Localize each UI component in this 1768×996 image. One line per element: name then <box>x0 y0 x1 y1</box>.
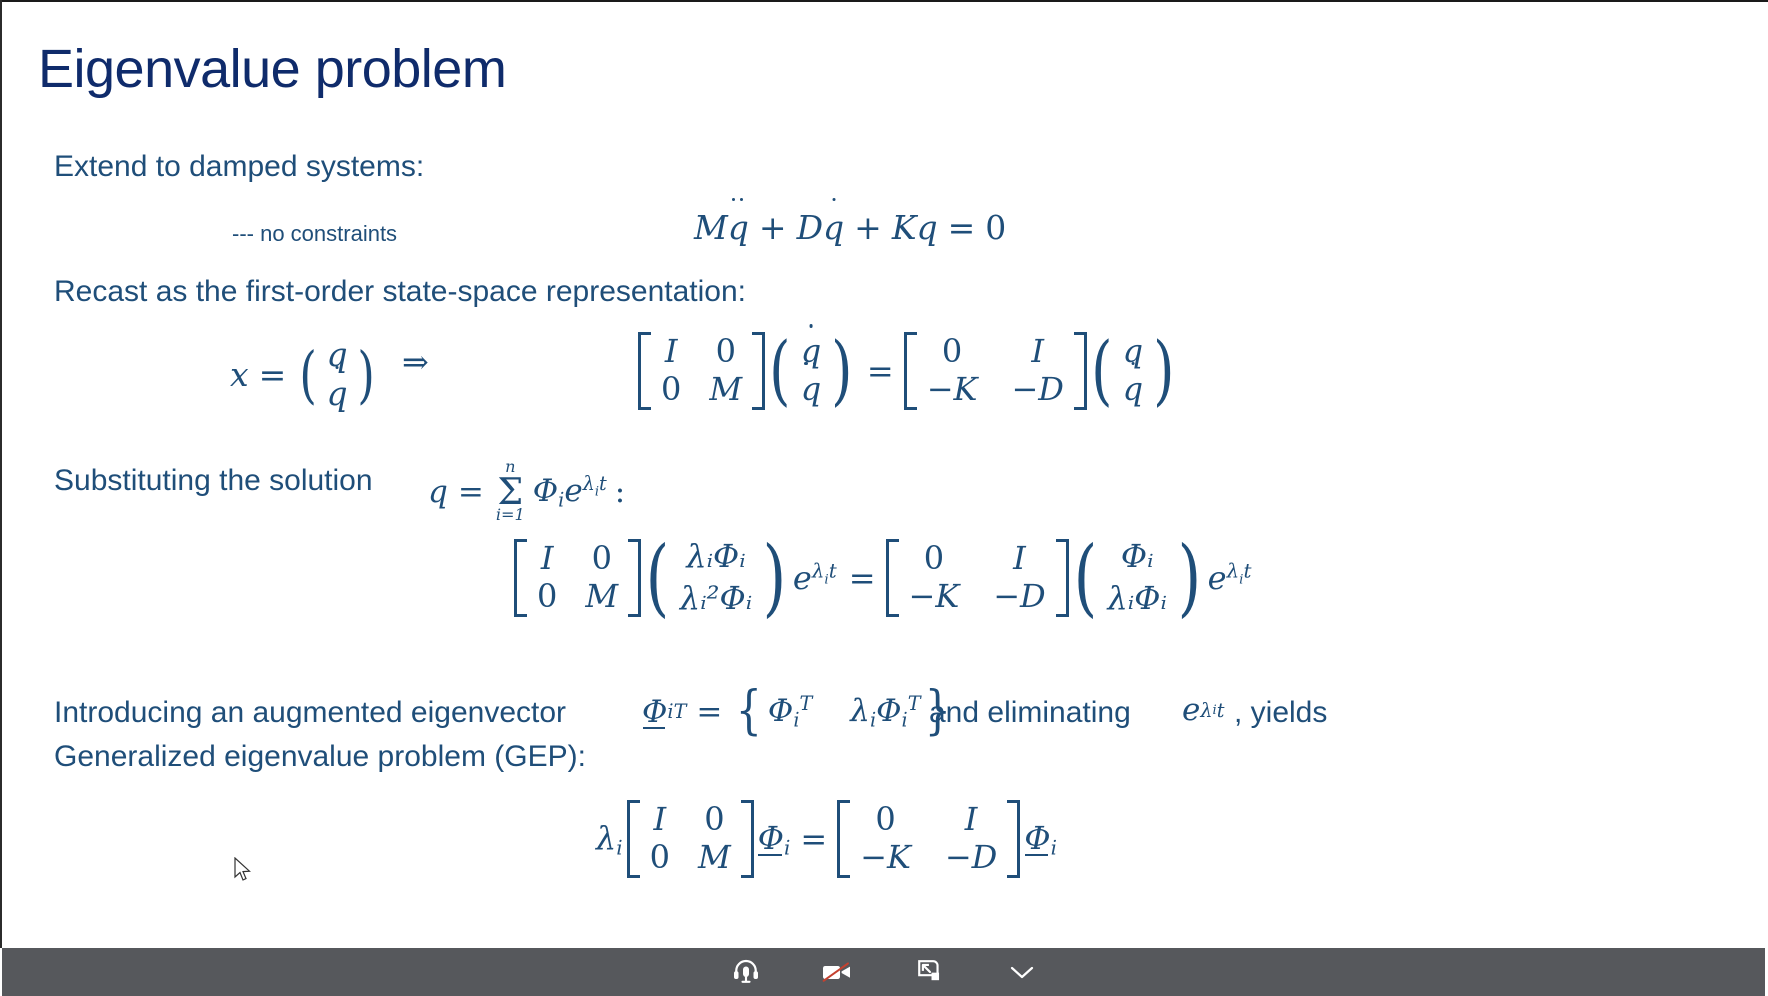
sub-rhs-m00: 0 <box>924 541 944 577</box>
gep-lhs-Phi-underlined: Φ <box>758 819 784 857</box>
eom-zero: 0 <box>985 208 1006 247</box>
aug-Phi-2-sup: T <box>908 692 921 715</box>
aug-sup-T: T <box>674 700 687 723</box>
gep-lhs-m11: M <box>698 840 731 876</box>
state-vector-q-dot: q <box>326 376 347 413</box>
sol-colon: : <box>607 474 625 510</box>
eom-D: D <box>797 208 823 247</box>
sub-lhs-exp-lambda: λ <box>812 559 825 582</box>
gep-lhs-m01: 0 <box>704 802 724 838</box>
sub-lhs-vector: ( λᵢΦᵢ λᵢ²Φᵢ ) <box>641 537 791 619</box>
elim-exp-t: t <box>1217 699 1225 722</box>
paren-right-icon: ) <box>1153 343 1174 398</box>
sub-rhs-vector-entries: Φᵢ λᵢΦᵢ <box>1101 537 1172 619</box>
eom-M: M <box>694 208 728 247</box>
elim-e: e <box>1182 692 1200 728</box>
bracket-right-icon <box>1074 332 1087 410</box>
sub-rhs-v0: Φᵢ <box>1121 539 1154 575</box>
gep-rhs-matrix: 0 I −K −D <box>837 800 1020 878</box>
gep-rhs-m11: −D <box>945 840 997 876</box>
paren-left-icon: ( <box>1091 343 1112 398</box>
sub-lhs-vector-entries: λᵢΦᵢ λᵢ²Φᵢ <box>674 537 758 619</box>
elim-exp-lambda: λ <box>1200 699 1212 722</box>
sol-e: e <box>564 473 582 509</box>
text-introducing-augmented: Introducing an augmented eigenvector <box>54 695 566 732</box>
sub-lhs-m10: 0 <box>537 579 557 615</box>
gep-lhs-m10: 0 <box>650 840 670 876</box>
bracket-left-icon <box>627 800 640 878</box>
equation-state-space-form: I 0 0 M ( q q ) = 0 I <box>638 332 1179 410</box>
gep-rhs-m01: I <box>965 802 978 838</box>
gep-lhs-m00: I <box>653 802 666 838</box>
gep-rhs-Phi-sub: i <box>1051 836 1057 859</box>
aug-Phi-2: Φ <box>876 693 901 729</box>
ss-lhs-v1: q <box>801 372 821 408</box>
state-column-vector: ( q q ) <box>296 335 378 415</box>
meeting-toolbar <box>2 948 1765 996</box>
equation-state-vector-definition: x = ( q q ) <box>230 335 378 415</box>
ss-lhs-m01: 0 <box>716 334 736 370</box>
headset-icon[interactable] <box>731 957 761 987</box>
text-yields: , yields <box>1234 695 1327 732</box>
sub-lhs-v1: λᵢ²Φᵢ <box>680 581 752 617</box>
eom-q-ddot: q <box>728 208 749 247</box>
text-substituting-solution: Substituting the solution <box>54 463 373 500</box>
sub-rhs-m10: −K <box>909 579 960 615</box>
eom-q: q <box>916 208 937 247</box>
gep-rhs-matrix-entries: 0 I −K −D <box>850 800 1007 878</box>
summation-operator: n Σ i=1 <box>496 460 525 523</box>
brace-left-icon: { <box>736 693 762 730</box>
state-equals: = <box>249 355 297 394</box>
ss-rhs-vector-entries: q q <box>1117 332 1149 410</box>
chevron-down-icon[interactable] <box>1008 962 1036 982</box>
eom-plus-1: + <box>749 208 797 247</box>
gep-lhs-matrix-entries: I 0 0 M <box>640 800 741 878</box>
bracket-left-icon <box>837 800 850 878</box>
aug-equals: = <box>686 694 732 730</box>
paren-left-icon: ( <box>646 548 670 607</box>
ss-lhs-m00: I <box>665 334 678 370</box>
ss-rhs-matrix-entries: 0 I −K −D <box>917 332 1074 410</box>
ss-rhs-m11: −D <box>1011 372 1063 408</box>
implies-icon: ⇒ <box>402 343 429 381</box>
bracket-left-icon <box>638 332 651 410</box>
bracket-left-icon <box>514 539 527 617</box>
sub-lhs-m11: M <box>585 579 618 615</box>
eom-plus-2: + <box>844 208 892 247</box>
ss-rhs-m01: I <box>1031 334 1044 370</box>
sum-sigma-icon: Σ <box>497 475 523 509</box>
eom-equals: = <box>938 208 986 247</box>
headset-button[interactable] <box>700 948 792 996</box>
mouse-cursor-icon <box>234 857 254 883</box>
sub-lhs-m00: I <box>541 541 554 577</box>
slide-canvas: Eigenvalue problem Extend to damped syst… <box>2 2 1765 948</box>
equation-augmented-eigenvector: ΦiT = { ΦiT λiΦiT } <box>642 692 954 732</box>
ss-lhs-vector: ( q q ) <box>765 332 857 410</box>
sol-exp-lambda: λ <box>583 472 595 495</box>
equation-exponential-term: eλit <box>1182 692 1224 728</box>
share-screen-button[interactable] <box>884 948 976 996</box>
sub-rhs-m01: I <box>1013 541 1026 577</box>
ss-equals: = <box>857 352 904 390</box>
sub-rhs-e: e <box>1208 559 1227 597</box>
ss-lhs-matrix: I 0 0 M <box>638 332 765 410</box>
gep-lhs-matrix: I 0 0 M <box>627 800 754 878</box>
sub-rhs-vector: ( Φᵢ λᵢΦᵢ ) <box>1069 537 1206 619</box>
paren-right-icon: ) <box>763 548 787 607</box>
bracket-right-icon <box>1007 800 1020 878</box>
sol-equals: = <box>448 474 494 510</box>
sub-lhs-matrix-entries: I 0 0 M <box>527 539 628 617</box>
gep-rhs-Phi-underlined: Φ <box>1024 819 1050 857</box>
sub-rhs-v1: λᵢΦᵢ <box>1107 581 1166 617</box>
paren-right-icon: ) <box>357 351 374 399</box>
paren-left-icon: ( <box>769 343 790 398</box>
equation-substituted-eigenproblem: I 0 0 M ( λᵢΦᵢ λᵢ²Φᵢ ) eλit = <box>514 537 1253 619</box>
sol-exp-t: t <box>599 472 607 495</box>
sub-rhs-matrix: 0 I −K −D <box>886 539 1069 617</box>
bracket-left-icon <box>904 332 917 410</box>
eom-q-dot: q <box>823 208 844 247</box>
ss-rhs-vector: ( q q ) <box>1087 332 1179 410</box>
equation-modal-solution: q = n Σ i=1 Φieλit : <box>428 460 625 523</box>
sub-rhs-exp-lambda: λ <box>1227 559 1240 582</box>
paren-left-icon: ( <box>1073 548 1097 607</box>
presentation-window: Eigenvalue problem Extend to damped syst… <box>0 0 1768 996</box>
aug-Phi-1: Φ <box>768 693 793 729</box>
gep-rhs-m00: 0 <box>875 802 895 838</box>
text-and-eliminating: and eliminating <box>929 695 1131 732</box>
state-x: x <box>230 355 249 394</box>
page-title: Eigenvalue problem <box>38 38 506 100</box>
camera-off-icon[interactable] <box>821 959 855 985</box>
paren-right-icon: ) <box>1177 548 1201 607</box>
sum-lower-limit: i=1 <box>496 508 525 523</box>
sol-Phi: Φ <box>533 473 558 509</box>
sub-rhs-matrix-entries: 0 I −K −D <box>899 539 1056 617</box>
text-generalized-eigenvalue-problem: Generalized eigenvalue problem (GEP): <box>54 739 586 776</box>
ss-rhs-m10: −K <box>927 372 978 408</box>
paren-left-icon: ( <box>300 351 317 399</box>
sub-rhs-m11: −D <box>993 579 1045 615</box>
implies-arrow: ⇒ <box>402 343 429 381</box>
sub-equals: = <box>839 559 886 597</box>
bracket-right-icon <box>628 539 641 617</box>
sub-rhs-exp-t: t <box>1243 559 1251 582</box>
equation-generalized-eigenvalue-problem: λi I 0 0 M Φi = 0 I −K −D <box>596 800 1057 878</box>
paren-right-icon: ) <box>831 343 852 398</box>
ss-rhs-m00: 0 <box>942 334 962 370</box>
ss-lhs-vector-entries: q q <box>795 332 827 410</box>
gep-lhs-Phi: Φ <box>758 819 784 857</box>
sub-lhs-matrix: I 0 0 M <box>514 539 641 617</box>
state-vector-entries: q q <box>320 335 353 415</box>
aug-Phi: Φ <box>642 694 667 730</box>
ss-rhs-v1: q <box>1123 372 1143 408</box>
sub-lhs-v0: λᵢΦᵢ <box>686 539 745 575</box>
gep-rhs-Phi: Φ <box>1024 819 1050 857</box>
text-extend-damped: Extend to damped systems: <box>54 149 424 186</box>
gep-lambda: λ <box>596 819 616 857</box>
share-screen-icon[interactable] <box>916 958 944 986</box>
camera-off-button[interactable] <box>792 948 884 996</box>
gep-equals: = <box>790 820 837 858</box>
text-recast-state-space: Recast as the first-order state-space re… <box>54 274 746 311</box>
bracket-right-icon <box>752 332 765 410</box>
sub-lhs-exp-t: t <box>829 559 837 582</box>
eom-K: K <box>892 208 917 247</box>
gep-rhs-m10: −K <box>860 840 911 876</box>
text-no-constraints: --- no constraints <box>232 221 397 247</box>
sub-lhs-m01: 0 <box>592 541 612 577</box>
bracket-right-icon <box>1056 539 1069 617</box>
bracket-right-icon <box>741 800 754 878</box>
ss-lhs-matrix-entries: I 0 0 M <box>651 332 752 410</box>
sub-lhs-e: e <box>793 559 812 597</box>
ss-lhs-m11: M <box>709 372 742 408</box>
aug-Phi-underlined: Φ <box>642 694 667 730</box>
more-options-button[interactable] <box>976 948 1068 996</box>
bracket-left-icon <box>886 539 899 617</box>
sol-q: q <box>428 474 448 510</box>
ss-rhs-matrix: 0 I −K −D <box>904 332 1087 410</box>
aug-Phi-1-sup: T <box>799 692 812 715</box>
aug-lambda: λ <box>850 693 870 729</box>
equation-equation-of-motion: M q + D q + K q = 0 <box>694 208 1006 247</box>
ss-lhs-m10: 0 <box>661 372 681 408</box>
gep-lambda-sub: i <box>616 836 622 859</box>
